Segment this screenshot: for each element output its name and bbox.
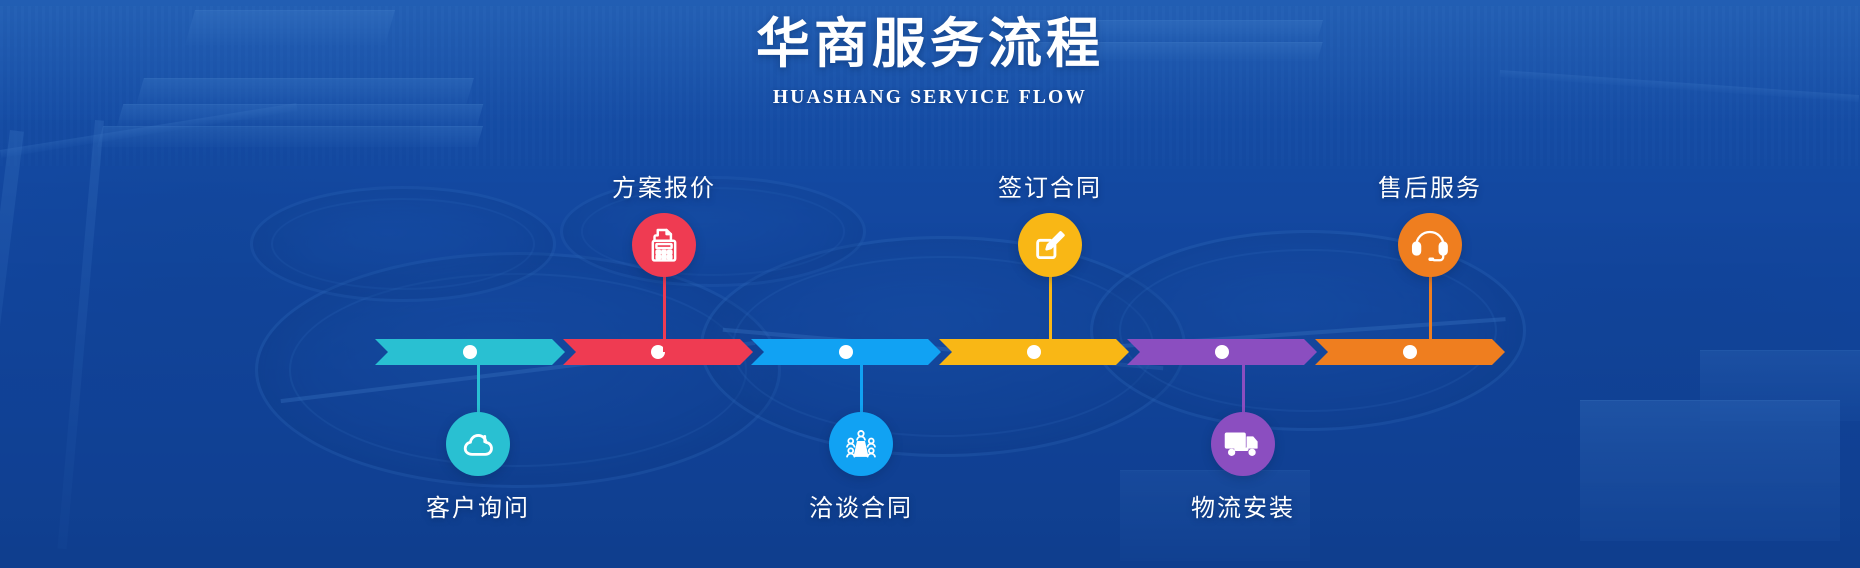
page-title: 华商服务流程 <box>0 14 1860 74</box>
flow-chevron-node <box>1027 345 1041 359</box>
service-flow-banner: 华商服务流程 HUASHANG SERVICE FLOW 客户询问方案报价 <box>0 0 1860 568</box>
flow-step-label: 客户询问 <box>368 488 588 523</box>
flow-chevron-1[interactable] <box>375 339 565 365</box>
flow-step-3[interactable]: 洽谈合同 <box>751 412 971 523</box>
flow-chevron-node <box>463 345 477 359</box>
page-subtitle: HUASHANG SERVICE FLOW <box>0 87 1860 109</box>
flow-step-1[interactable]: 客户询问 <box>368 412 588 523</box>
flow-step-label: 方案报价 <box>554 168 774 203</box>
flow-step-5[interactable]: 物流安装 <box>1133 412 1353 523</box>
truck-icon[interactable] <box>1211 412 1275 476</box>
banner-title-block: 华商服务流程 HUASHANG SERVICE FLOW <box>0 14 1860 109</box>
flow-chevron-3[interactable] <box>751 339 941 365</box>
flow-chevron-node <box>1215 345 1229 359</box>
flow-chevron-6[interactable] <box>1315 339 1505 365</box>
meeting-icon[interactable] <box>829 412 893 476</box>
cloud-icon[interactable] <box>446 412 510 476</box>
flow-chevron-node <box>839 345 853 359</box>
flow-chevron-strip <box>375 339 1495 365</box>
calculator-icon[interactable] <box>632 213 696 277</box>
flow-chevron-node <box>1403 345 1417 359</box>
flow-step-4[interactable]: 签订合同 <box>940 168 1160 277</box>
flow-step-2[interactable]: 方案报价 <box>554 168 774 277</box>
flow-chevron-4[interactable] <box>939 339 1129 365</box>
flow-step-6[interactable]: 售后服务 <box>1320 168 1540 277</box>
flow-step-label: 洽谈合同 <box>751 488 971 523</box>
contract-pencil-icon[interactable] <box>1018 213 1082 277</box>
flow-step-label: 售后服务 <box>1320 168 1540 203</box>
flow-step-label: 物流安装 <box>1133 488 1353 523</box>
headset-icon[interactable] <box>1398 213 1462 277</box>
flow-chevron-2[interactable] <box>563 339 753 365</box>
flow-step-label: 签订合同 <box>940 168 1160 203</box>
flow-chevron-5[interactable] <box>1127 339 1317 365</box>
